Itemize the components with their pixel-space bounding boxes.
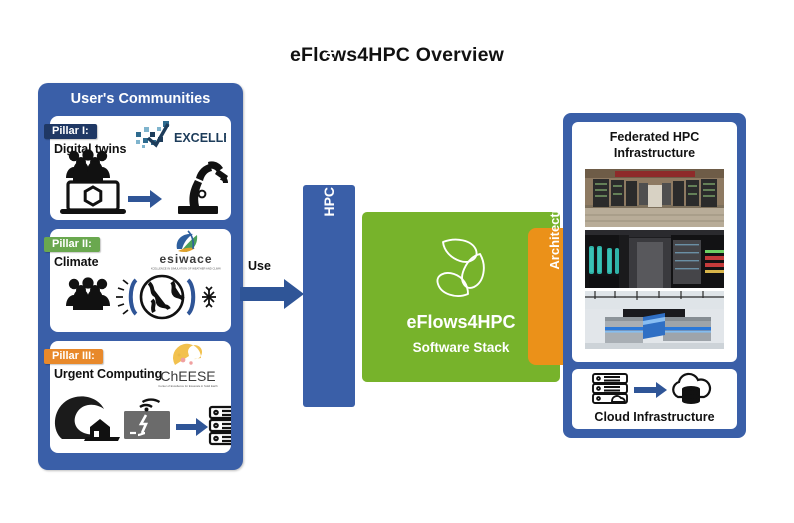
cheese-logo-text: ChEESE (160, 368, 215, 384)
excellerat-logo-text: EXCELLERAT (174, 131, 226, 145)
pillar-tag-2: Pillar II: (44, 237, 100, 252)
cloud-infrastructure-title: Cloud Infrastructure (572, 410, 737, 424)
pillar-tag-3: Pillar III: (44, 349, 103, 364)
esiwace-logo-text: esiwace (159, 252, 212, 266)
pillar-art-climate (50, 272, 231, 330)
cloud-infrastructure-card[interactable]: Cloud Infrastructure (572, 369, 737, 429)
arrow-right-icon (634, 382, 667, 398)
pillar-card-digital-twins[interactable]: Pillar I: Digital twins (50, 116, 231, 220)
use-label: Use (248, 259, 271, 273)
diagram-canvas: eFlows4HPC Overview User's Communities P… (0, 0, 794, 523)
federated-hpc-title: Federated HPC Infrastructure (572, 129, 737, 162)
people-group-icon (66, 277, 110, 310)
hpc-photo-strip (585, 169, 724, 351)
tsunami-wave-house-icon (55, 396, 120, 441)
globe-climate-icon (116, 276, 216, 318)
archopt-line-1: Architectural (548, 189, 563, 269)
esiwace-logo: esiwace CENTRE OF EXCELLENCE IN SIMULATI… (151, 230, 221, 278)
cloud-infrastructure-art (590, 371, 720, 411)
page-title: eFlows4HPC Overview (0, 44, 794, 67)
pillar-tag-1: Pillar I: (44, 124, 97, 139)
federated-hpc-title-line-1: Federated HPC (610, 130, 700, 144)
pillar-art-urgent-computing (50, 387, 231, 451)
arrow-right-icon (176, 418, 208, 436)
eflows4hpc-triskelion-logo (420, 228, 502, 306)
use-arrow-icon (240, 278, 306, 310)
supercomputer-blue-cabinets-photo (585, 291, 724, 349)
supercomputer-hall-photo (585, 169, 724, 227)
cloud-database-icon (673, 374, 710, 404)
laptop-gear-icon (60, 182, 126, 214)
pillar-name-3: Urgent Computing (54, 367, 162, 381)
users-communities-panel: User's Communities Pillar I: Digital twi… (38, 83, 243, 470)
federated-hpc-infrastructure-card[interactable]: Federated HPC Infrastructure (572, 122, 737, 362)
infrastructure-panel: Federated HPC Infrastructure (563, 113, 746, 438)
pillar-art-digital-twins (50, 148, 231, 218)
server-cloud-badge (612, 396, 625, 402)
pillar-name-2: Climate (54, 255, 98, 269)
pillar-card-climate[interactable]: Pillar II: Climate esiwace CENTRE OF EXC… (50, 229, 231, 332)
people-group-icon (66, 149, 110, 181)
federated-hpc-title-line-2: Infrastructure (614, 146, 695, 160)
esiwace-logo-subtext: CENTRE OF EXCELLENCE IN SIMULATION OF WE… (151, 267, 221, 271)
datacenter-racks-cabling-photo (585, 230, 724, 288)
robot-arm-icon (178, 161, 228, 214)
pillar-card-urgent-computing[interactable]: Pillar III: Urgent Computing ChEESE Cent… (50, 341, 231, 453)
server-stack-icon (210, 407, 231, 444)
hpc-workflow-as-a-service-panel: HPC Workflow as a Service (303, 185, 355, 407)
seismograph-screen-icon (124, 400, 170, 439)
excellerat-logo: EXCELLERAT (134, 118, 226, 152)
users-communities-heading: User's Communities (38, 91, 243, 107)
hpc-workflow-as-a-service-label: HPC Workflow as a Service (303, 15, 355, 237)
arrow-right-icon (128, 190, 162, 208)
